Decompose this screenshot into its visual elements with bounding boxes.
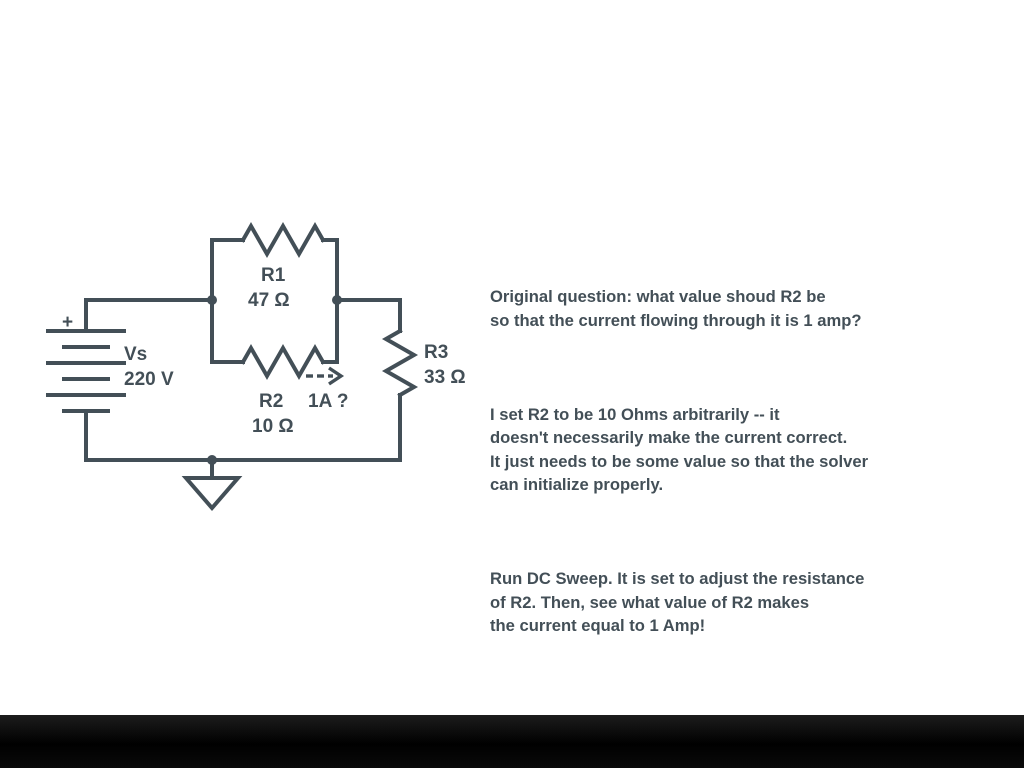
schematic-canvas[interactable]: + Vs 220 V R1 47 Ω R2 10 Ω 1A ? R3 33 Ω …	[0, 0, 1024, 715]
wire-r1-right-to-nodeB	[323, 240, 337, 300]
resistor-r1-zigzag	[243, 226, 323, 254]
r3-name-label: R3	[424, 342, 448, 363]
wire-battery-top-to-nodeA	[86, 300, 212, 331]
current-arrow-r2	[306, 368, 341, 384]
note-paragraph-3: Run DC Sweep. It is set to adjust the re…	[490, 567, 990, 638]
r3-value-label: 33 Ω	[424, 367, 466, 388]
battery-polarity-plus: +	[62, 312, 73, 333]
r1-name-label: R1	[261, 265, 286, 286]
footer-bar: CIRCUIT LAB Mike Robbins (mrobbins)/Copy…	[0, 715, 1024, 768]
battery-value-label: 220 V	[124, 369, 174, 390]
note-paragraph-1: Original question: what value shoud R2 b…	[490, 285, 990, 332]
resistor-r3-zigzag	[386, 331, 414, 395]
r1-value-label: 47 Ω	[248, 290, 290, 311]
r2-name-label: R2	[259, 391, 283, 412]
battery-name-label: Vs	[124, 344, 147, 365]
wire-nodeA-to-r2-left	[212, 300, 243, 362]
wire-battery-bottom-to-rail	[86, 411, 400, 460]
resistor-r2-zigzag	[243, 348, 323, 376]
annotation-notes: Original question: what value shoud R2 b…	[490, 238, 990, 685]
r2-value-label: 10 Ω	[252, 416, 294, 437]
wire-nodeB-to-r3-top	[337, 300, 400, 331]
wire-r2-right-to-nodeB	[323, 300, 337, 362]
junction-dot-node-b	[332, 295, 342, 305]
r2-current-label: 1A ?	[308, 391, 348, 412]
wire-nodeA-to-r1-left	[212, 240, 243, 300]
ground-symbol-triangle	[186, 478, 238, 508]
voltage-source-vs	[48, 331, 124, 411]
junction-dot-node-a	[207, 295, 217, 305]
junction-dot-ground	[207, 455, 217, 465]
note-paragraph-2: I set R2 to be 10 Ohms arbitrarily -- it…	[490, 403, 990, 497]
